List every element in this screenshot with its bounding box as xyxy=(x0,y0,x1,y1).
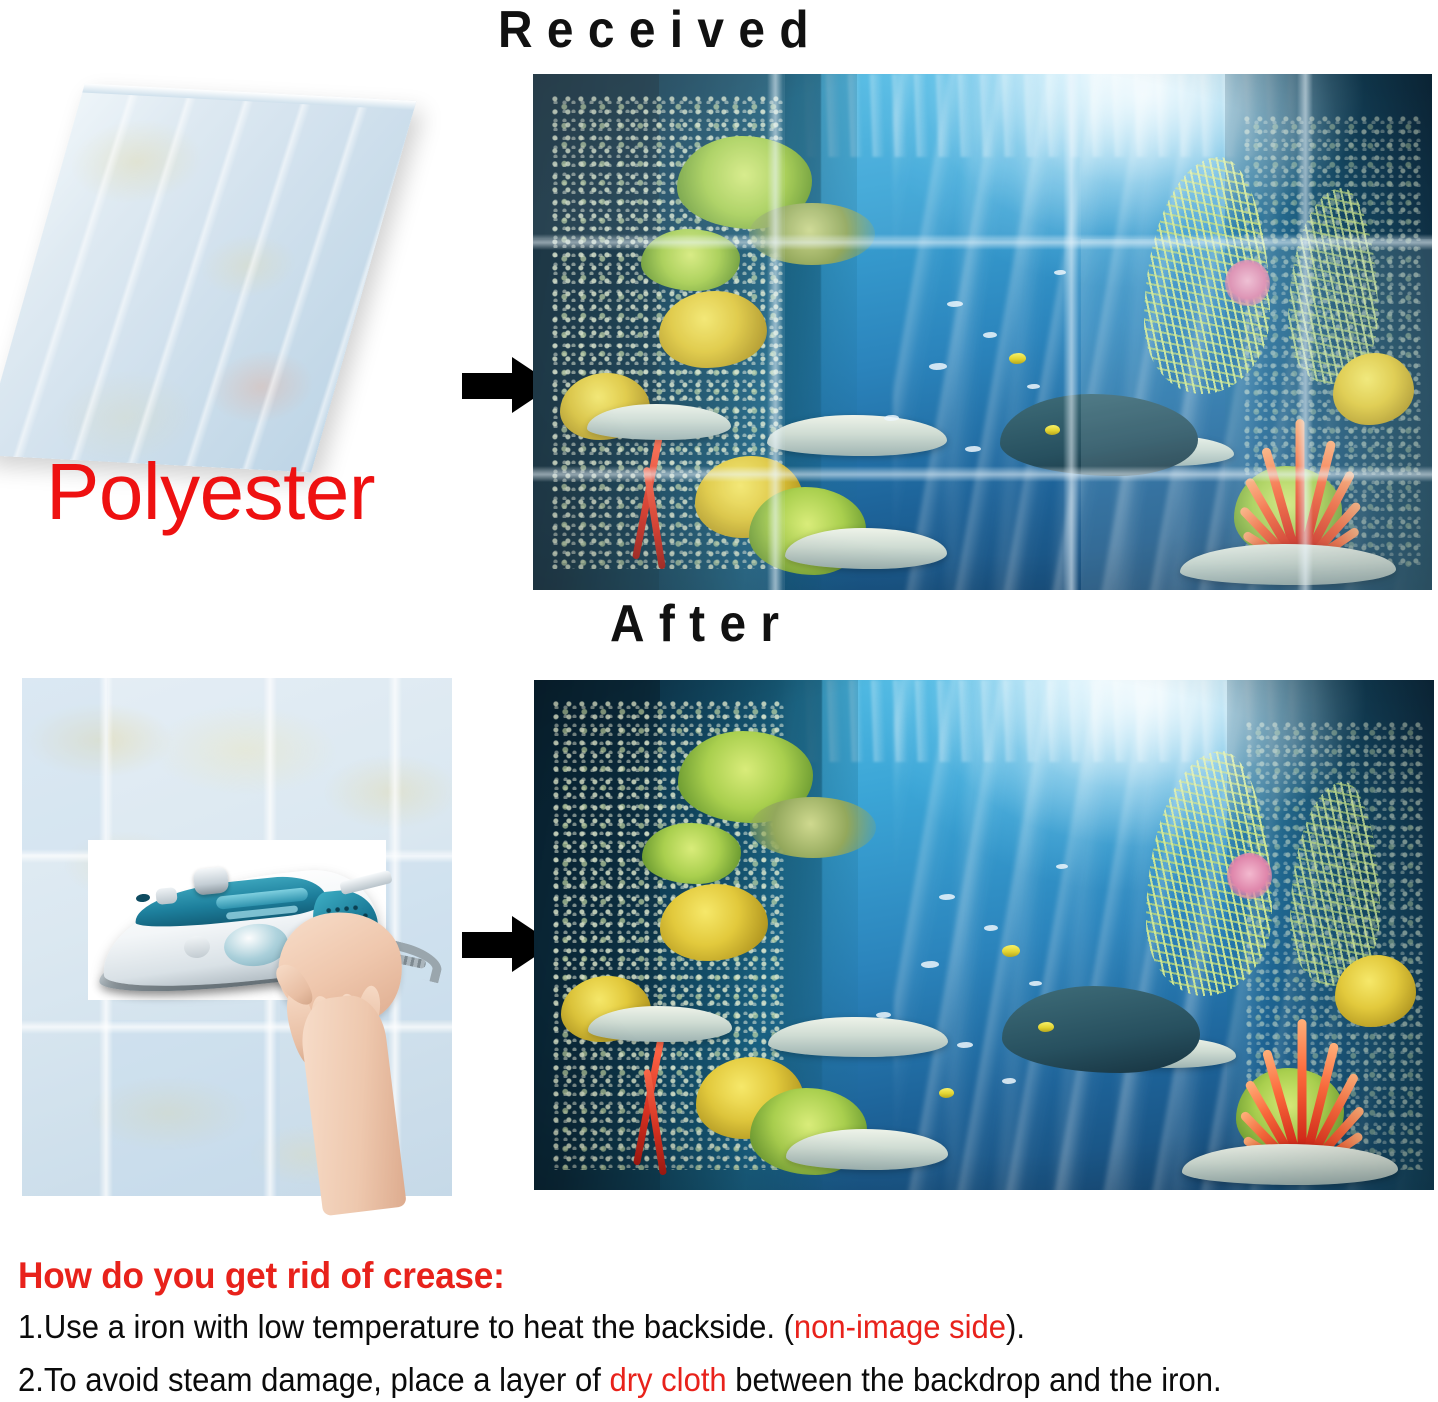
image-vignette xyxy=(533,74,1432,590)
step-1-suffix: ). xyxy=(1006,1308,1025,1345)
polyester-material-label: Polyester xyxy=(46,452,375,532)
folded-polyester-sample xyxy=(22,86,414,476)
care-instructions-block: How do you get rid of crease: 1.Use a ir… xyxy=(18,1256,1430,1402)
reef-backdrop-received xyxy=(533,74,1432,590)
step-2-highlight: dry cloth xyxy=(609,1361,726,1398)
arrow-shaft xyxy=(462,373,518,399)
fabric-sheet xyxy=(0,83,416,472)
instruction-step-1: 1.Use a iron with low temperature to hea… xyxy=(18,1305,1345,1349)
step-1-prefix: 1.Use a iron with low temperature to hea… xyxy=(18,1308,794,1345)
instructions-title: How do you get rid of crease: xyxy=(18,1256,1359,1296)
after-heading: After xyxy=(610,598,793,650)
fabric-fold-lines xyxy=(0,83,416,472)
iron-spray-knob xyxy=(155,887,178,905)
iron-steam-knob xyxy=(193,866,230,895)
step-2-suffix: between the backdrop and the iron. xyxy=(727,1361,1222,1398)
iron-indicator-light xyxy=(136,893,151,902)
product-instruction-graphic: Received Polyester xyxy=(0,0,1438,1402)
forearm xyxy=(297,992,407,1217)
image-vignette xyxy=(534,680,1434,1190)
backside-panel-tint-a xyxy=(22,678,108,854)
instruction-step-2: 2.To avoid steam damage, place a layer o… xyxy=(18,1358,1345,1402)
step-2-prefix: 2.To avoid steam damage, place a layer o… xyxy=(18,1361,609,1398)
step-1-highlight: non-image side xyxy=(794,1308,1006,1345)
reef-backdrop-after xyxy=(534,680,1434,1190)
hand-holding-iron xyxy=(252,912,452,1212)
iron-cord-clip xyxy=(339,870,393,895)
received-heading: Received xyxy=(498,4,823,56)
arrow-shaft xyxy=(462,932,518,958)
